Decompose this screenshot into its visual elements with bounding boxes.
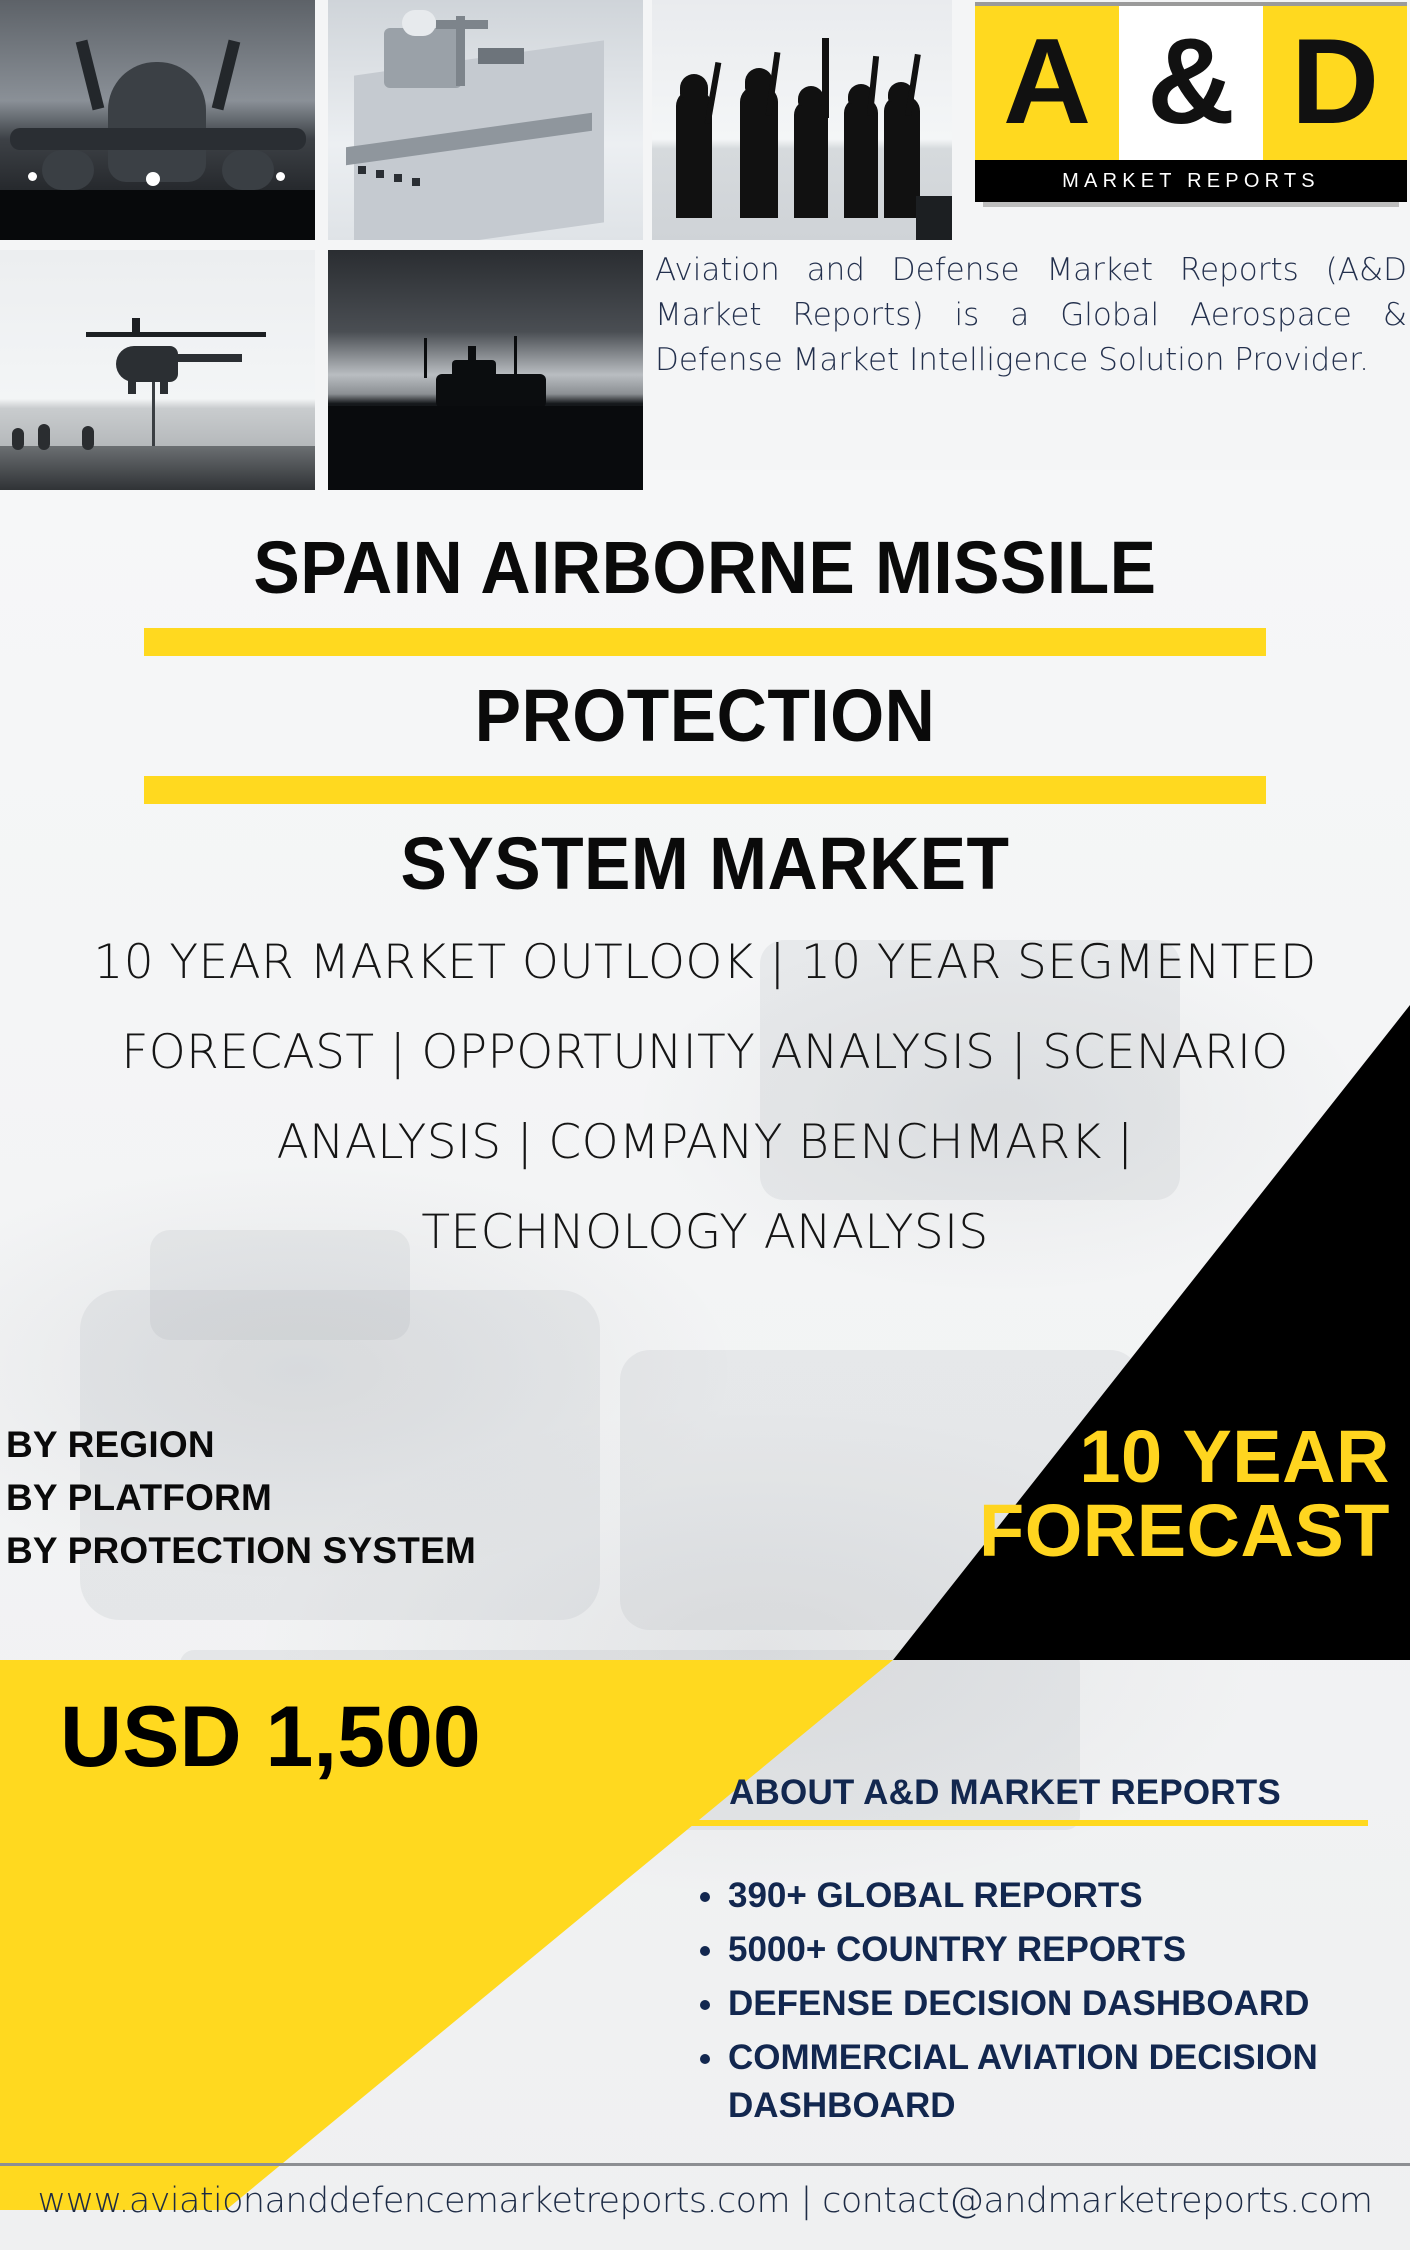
report-subtitle: 10 YEAR MARKET OUTLOOK | 10 YEAR SEGMENT… <box>35 918 1375 1278</box>
subtitle-line-3: ANALYSIS | COMPANY BENCHMARK | <box>35 1098 1375 1188</box>
company-intro-paragraph: Aviation and Defense Market Reports (A&D… <box>655 248 1407 383</box>
forecast-badge: 10 YEAR FORECAST <box>600 1420 1390 1568</box>
logo-tagline-band: MARKET REPORTS <box>975 160 1407 202</box>
photo-soldiers-silhouette-patrol <box>652 0 952 240</box>
about-bullet-text: COMMERCIAL AVIATION DECISION DASHBOARD <box>728 2038 1318 2125</box>
logo-tagline-text: MARKET REPORTS <box>1062 170 1320 193</box>
title-line-2: PROTECTION <box>80 670 1330 762</box>
photo-fighter-jet-on-carrier-deck <box>0 0 315 240</box>
logo-letter-a: A <box>975 2 1119 160</box>
title-line-1: SPAIN AIRBORNE MISSILE <box>80 522 1330 614</box>
about-bullet-item: COMMERCIAL AVIATION DECISION DASHBOARD <box>728 2034 1390 2130</box>
bullet-dot-icon <box>700 2000 710 2010</box>
photo-aircraft-carrier-superstructure <box>328 0 643 240</box>
hero-photo-grid <box>0 0 660 490</box>
about-bullet-text: DEFENSE DECISION DASHBOARD <box>728 1984 1309 2023</box>
about-section: ABOUT A&D MARKET REPORTS 390+ GLOBAL REP… <box>620 1772 1390 2136</box>
report-title: SPAIN AIRBORNE MISSILE PROTECTION SYSTEM… <box>40 522 1370 910</box>
subtitle-line-2: FORECAST | OPPORTUNITY ANALYSIS | SCENAR… <box>35 1008 1375 1098</box>
title-highlight-bar-2 <box>144 776 1266 804</box>
bullet-dot-icon <box>700 1892 710 1902</box>
forecast-badge-line-1: 10 YEAR <box>600 1420 1390 1494</box>
about-heading-underline <box>642 1820 1368 1826</box>
about-heading: ABOUT A&D MARKET REPORTS <box>620 1772 1390 1814</box>
subtitle-line-1: 10 YEAR MARKET OUTLOOK | 10 YEAR SEGMENT… <box>35 918 1375 1008</box>
segment-item-region: BY REGION <box>6 1418 626 1471</box>
photo-armored-vehicle-at-dusk <box>328 250 643 490</box>
about-bullet-list: 390+ GLOBAL REPORTS 5000+ COUNTRY REPORT… <box>620 1872 1390 2130</box>
logo-letter-d: D <box>1263 2 1407 160</box>
segmentation-list: BY REGION BY PLATFORM BY PROTECTION SYST… <box>6 1418 626 1577</box>
about-bullet-item: 390+ GLOBAL REPORTS <box>728 1872 1390 1920</box>
photo-helicopter-fast-rope-insertion <box>0 250 315 490</box>
about-bullet-text: 5000+ COUNTRY REPORTS <box>728 1930 1186 1969</box>
title-highlight-bar-1 <box>144 628 1266 656</box>
footer-contact[interactable]: www.aviationanddefencemarketreports.com … <box>0 2176 1410 2226</box>
about-bullet-text: 390+ GLOBAL REPORTS <box>728 1876 1143 1915</box>
logo-top-rule <box>975 2 1407 6</box>
subtitle-line-4: TECHNOLOGY ANALYSIS <box>35 1188 1375 1278</box>
logo-letter-ampersand: & <box>1119 2 1263 160</box>
segment-item-protection-system: BY PROTECTION SYSTEM <box>6 1524 626 1577</box>
about-bullet-item: 5000+ COUNTRY REPORTS <box>728 1926 1390 1974</box>
segment-item-platform: BY PLATFORM <box>6 1471 626 1524</box>
forecast-badge-line-2: FORECAST <box>600 1494 1390 1568</box>
bullet-dot-icon <box>700 2054 710 2064</box>
price-value: USD 1,500 <box>60 1690 620 1784</box>
logo-bottom-rule <box>983 202 1399 207</box>
about-bullet-item: DEFENSE DECISION DASHBOARD <box>728 1980 1390 2028</box>
brand-logo: A & D MARKET REPORTS <box>975 2 1407 212</box>
title-line-3: SYSTEM MARKET <box>80 818 1330 910</box>
bullet-dot-icon <box>700 1946 710 1956</box>
footer-divider <box>0 2163 1410 2166</box>
report-cover-page: A & D MARKET REPORTS Aviation and Defens… <box>0 0 1410 2250</box>
